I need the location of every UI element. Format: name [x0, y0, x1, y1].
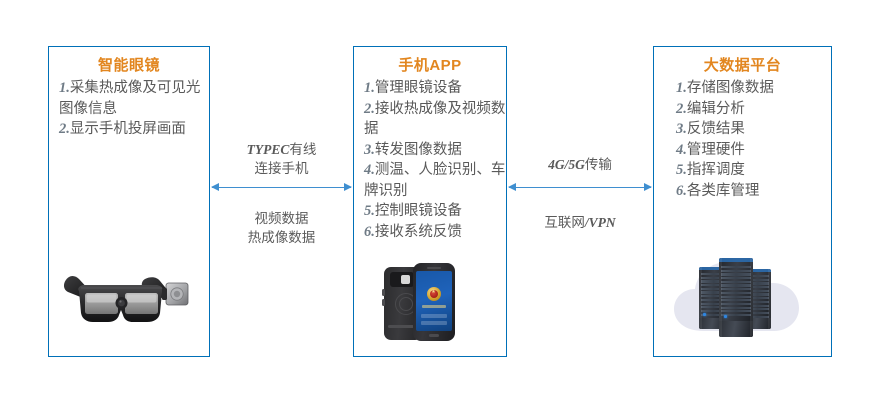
- arrowhead-right-icon: [344, 183, 352, 191]
- connector-label-below: 互联网/VPN: [509, 213, 651, 232]
- rack-edge-highlight: [768, 269, 771, 329]
- diagram-canvas: 智能眼镜 1.采集热成像及可见光图像信息 2.显示手机投屏画面: [0, 0, 875, 402]
- list-item: 6.接收系统反馈: [364, 222, 506, 243]
- smart-glasses-icon: [59, 255, 201, 335]
- phone-side-button: [382, 289, 385, 296]
- police-emblem-star: ★: [431, 290, 435, 295]
- connector-label-thermal-data: 热成像数据: [212, 228, 351, 247]
- list-item-number: 1.: [59, 80, 70, 96]
- list-item-text: 存储图像数据: [687, 80, 774, 96]
- phone-front-body: ★: [413, 263, 455, 341]
- rack-top-light: [719, 258, 753, 262]
- rack-status-led: [703, 313, 706, 316]
- list-item: 2.接收热成像及视频数据: [364, 99, 506, 140]
- list-item: 5.指挥调度: [676, 160, 831, 181]
- phone-rear-strip: [388, 325, 414, 328]
- list-item: 3.转发图像数据: [364, 140, 506, 161]
- box-list-bigdata-platform: 1.存储图像数据 2.编辑分析 3.反馈结果 4.管理硬件 5.指挥调度 6.各…: [654, 78, 831, 201]
- connector-label-above: TYPEC有线 连接手机: [212, 140, 351, 178]
- rugged-phone-photo: ★: [382, 259, 482, 344]
- rack-unit-rows: [721, 266, 751, 316]
- list-item-number: 2.: [676, 101, 687, 117]
- screen-title-text: [422, 305, 446, 308]
- list-item: 6.各类库管理: [676, 181, 831, 202]
- list-item: 1.管理眼镜设备: [364, 78, 506, 99]
- list-item-number: 1.: [364, 80, 375, 96]
- phone-home-button: [429, 334, 439, 337]
- rack-edge-highlight: [699, 267, 702, 329]
- list-item-text: 管理眼镜设备: [375, 80, 462, 96]
- connector-label-typec: TYPEC: [247, 142, 290, 157]
- server-racks-cloud-photo: [666, 245, 821, 347]
- phone-screen: ★: [416, 271, 452, 331]
- connector-line: [212, 187, 351, 188]
- list-item-number: 3.: [364, 142, 375, 158]
- list-item: 1.存储图像数据: [676, 78, 831, 99]
- police-emblem-icon: ★: [427, 287, 441, 301]
- connector-line: [509, 187, 651, 188]
- list-item: 4.测温、人脸识别、车牌识别: [364, 160, 506, 201]
- connector-label-internet: 互联网: [544, 215, 585, 230]
- list-item-text: 接收系统反馈: [375, 224, 462, 240]
- connector-label-transmission: 传输: [585, 157, 612, 172]
- screen-input-2: [421, 321, 447, 325]
- list-item-number: 1.: [676, 80, 687, 96]
- connector-label-4g5g: 4G/5G: [548, 157, 585, 172]
- list-item-number: 3.: [676, 121, 687, 137]
- connector-label-video-data: 视频数据: [212, 209, 351, 228]
- screen-input-1: [421, 314, 447, 318]
- connector-glasses-to-phone: TYPEC有线 连接手机 视频数据 热成像数据: [212, 187, 351, 188]
- connector-label-above: 4G/5G传输: [509, 155, 651, 174]
- connector-label-connect-phone: 连接手机: [212, 159, 351, 178]
- arrowhead-right-icon: [644, 183, 652, 191]
- list-item-text: 采集热成像及可见光图像信息: [59, 80, 200, 117]
- box-mobile-app[interactable]: 手机APP 1.管理眼镜设备 2.接收热成像及视频数据 3.转发图像数据 4.测…: [353, 46, 507, 357]
- box-title-smart-glasses: 智能眼镜: [49, 56, 209, 76]
- connector-phone-to-platform: 4G/5G传输 互联网/VPN: [509, 187, 651, 188]
- connector-label-wired: 有线: [289, 142, 316, 157]
- phone-camera-lens: [401, 275, 410, 284]
- box-list-smart-glasses: 1.采集热成像及可见光图像信息 2.显示手机投屏画面: [49, 78, 209, 140]
- list-item-number: 6.: [364, 224, 375, 240]
- box-title-bigdata-platform: 大数据平台: [654, 56, 831, 76]
- box-list-mobile-app: 1.管理眼镜设备 2.接收热成像及视频数据 3.转发图像数据 4.测温、人脸识别…: [354, 78, 506, 242]
- box-bigdata-platform[interactable]: 大数据平台 1.存储图像数据 2.编辑分析 3.反馈结果 4.管理硬件 5.指挥…: [653, 46, 832, 357]
- phone-earpiece: [427, 267, 441, 269]
- server-rack-center: [719, 258, 753, 337]
- list-item-number: 6.: [676, 183, 687, 199]
- list-item: 2.编辑分析: [676, 99, 831, 120]
- list-item: 2.显示手机投屏画面: [59, 119, 209, 140]
- list-item-text: 指挥调度: [687, 162, 745, 178]
- list-item-text: 转发图像数据: [375, 142, 462, 158]
- list-item-text: 控制眼镜设备: [375, 203, 462, 219]
- connector-label-below: 视频数据 热成像数据: [212, 209, 351, 247]
- rack-edge-highlight-right: [750, 258, 753, 337]
- list-item-text: 反馈结果: [687, 121, 745, 137]
- list-item: 1.采集热成像及可见光图像信息: [59, 78, 209, 119]
- box-title-mobile-app: 手机APP: [354, 56, 506, 76]
- list-item-text: 显示手机投屏画面: [70, 121, 186, 137]
- list-item-number: 2.: [59, 121, 70, 137]
- list-item: 5.控制眼镜设备: [364, 201, 506, 222]
- smart-glasses-photo: [59, 255, 201, 335]
- list-item-number: 4.: [676, 142, 687, 158]
- list-item-text: 编辑分析: [687, 101, 745, 117]
- rack-base-panel: [719, 321, 753, 337]
- rack-edge-highlight: [719, 258, 722, 337]
- list-item-text: 管理硬件: [687, 142, 745, 158]
- list-item: 3.反馈结果: [676, 119, 831, 140]
- list-item-number: 4.: [364, 162, 375, 178]
- list-item: 4.管理硬件: [676, 140, 831, 161]
- list-item-number: 5.: [676, 162, 687, 178]
- rack-status-led: [724, 315, 727, 318]
- list-item-text: 各类库管理: [687, 183, 760, 199]
- box-smart-glasses[interactable]: 智能眼镜 1.采集热成像及可见光图像信息 2.显示手机投屏画面: [48, 46, 210, 357]
- phone-side-button-2: [382, 299, 385, 306]
- list-item-number: 2.: [364, 101, 375, 117]
- list-item-text: 测温、人脸识别、车牌识别: [364, 162, 505, 199]
- arrowhead-left-icon: [508, 183, 516, 191]
- list-item-number: 5.: [364, 203, 375, 219]
- phone-nfc-ring-inner: [399, 297, 413, 311]
- connector-label-vpn: /VPN: [585, 215, 616, 230]
- list-item-text: 接收热成像及视频数据: [364, 101, 505, 138]
- arrowhead-left-icon: [211, 183, 219, 191]
